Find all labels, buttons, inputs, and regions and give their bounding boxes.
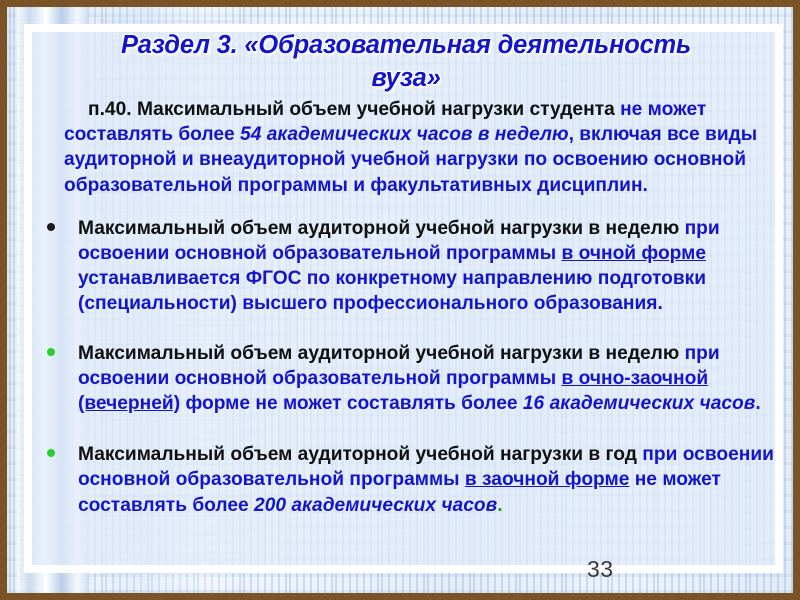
run-p4-underlined-form: в заочной форме <box>465 469 630 490</box>
run-p2-blue-2: устанавливается ФГОС по конкретному напр… <box>78 268 706 314</box>
bullet-point-icon <box>47 223 55 231</box>
run-clause-number: п.40. <box>88 99 137 120</box>
paragraph-intro: п.40. Максимальный объем учебной нагрузк… <box>40 97 775 198</box>
run-p1-italic-hours: 54 академических часов в неделю <box>240 124 569 145</box>
run-p2-underlined-form: в очной форме <box>561 243 706 264</box>
bullet-point-icon <box>47 449 55 457</box>
paragraph-correspondence-form: Максимальный объем аудиторной учебной на… <box>40 442 775 518</box>
run-p3-blue-3: . <box>755 393 760 414</box>
run-p2-black: Максимальный объем аудиторной учебной на… <box>78 218 685 239</box>
run-p4-green-period: . <box>497 495 502 516</box>
slide-body: п.40. Максимальный объем учебной нагрузк… <box>40 97 775 536</box>
slide-title-line-1: Раздел 3. «Образовательная деятельность <box>121 31 691 59</box>
run-p3-blue-2: форме не может составлять более <box>180 393 523 414</box>
run-p3-italic-hours: 16 академических часов <box>523 393 755 414</box>
run-p3-black: Максимальный объем аудиторной учебной на… <box>78 343 685 364</box>
slide-title-line-2: вуза» <box>41 62 771 95</box>
paragraph-full-time: Максимальный объем аудиторной учебной на… <box>40 216 775 317</box>
slide-page-number: 33 <box>587 556 614 583</box>
run-p4-italic-hours: 200 академических часов <box>254 495 497 516</box>
paragraph-evening-form: Максимальный объем аудиторной учебной на… <box>40 341 775 417</box>
slide-title: Раздел 3. «Образовательная деятельность … <box>41 29 771 95</box>
run-p1-black: Максимальный объем учебной нагрузки студ… <box>137 99 620 120</box>
bullet-point-icon <box>47 348 55 356</box>
presentation-slide: Раздел 3. «Образовательная деятельность … <box>0 0 800 600</box>
run-p4-black: Максимальный объем аудиторной учебной на… <box>78 444 642 465</box>
